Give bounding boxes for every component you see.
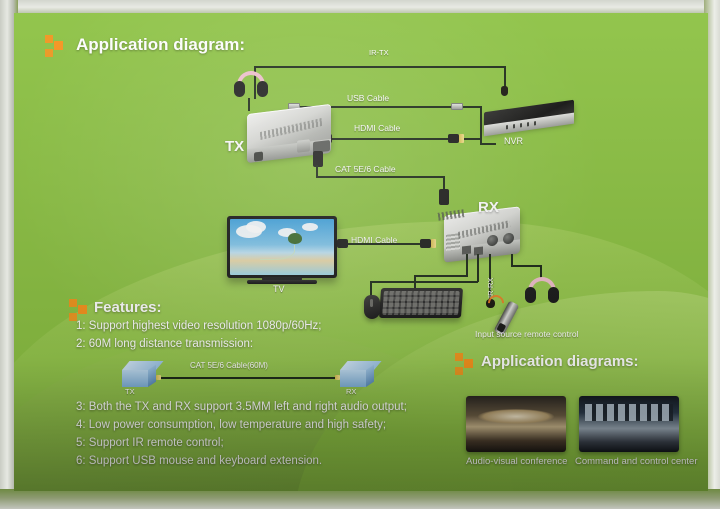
hdmi-body-tv (337, 239, 348, 248)
wire-headphone-tx (248, 98, 250, 111)
mini-label-cat-cable: CAT 5E/6 Cable(60M) (190, 361, 268, 370)
mini-label-tx: TX (125, 387, 135, 396)
wire-hdmi-bottom (348, 243, 420, 245)
label-rx: RX (478, 199, 499, 216)
wire-nvr-bus-vert (480, 106, 482, 144)
feature-item-4: 4: Low power consumption, low temperatur… (76, 419, 386, 431)
wire-nvr-bus-bottom (480, 143, 496, 145)
rx-usb-port-2 (474, 246, 483, 255)
tv-device (227, 216, 337, 278)
mini-label-rx: RX (346, 387, 356, 396)
thumbnail-command-control-center (579, 396, 679, 452)
label-usb-cable: USB Cable (347, 93, 389, 103)
wire-hdmi-to-nvr (464, 138, 480, 140)
feature-item-5: 5: Support IR remote control; (76, 437, 224, 449)
hdmi-connector-rx (431, 239, 436, 248)
wire-headphone-rx-horiz (511, 265, 541, 267)
feature-item-6: 6: Support USB mouse and keyboard extens… (76, 455, 322, 467)
tv-screen (230, 219, 334, 275)
rj45-connector-tx (313, 151, 323, 167)
wire-usb-kbd-horiz (414, 275, 468, 277)
label-remote-caption: Input source remote control (475, 329, 578, 339)
tx-audio-jack (254, 151, 263, 161)
label-tv: TV (273, 284, 285, 294)
mouse-device (364, 295, 380, 319)
thumbnail-audio-visual-conference (466, 396, 566, 452)
wire-cat-horizontal (316, 176, 444, 178)
wire-usb-mouse-horiz (370, 281, 478, 283)
box-front-panel: Application diagram: IR-TX USB Cable HDM… (14, 13, 708, 491)
wire-ir-tx-top (254, 66, 506, 68)
wire-usb-mouse-vert (477, 254, 479, 282)
feature-item-1: 1: Support highest video resolution 1080… (76, 320, 322, 332)
hdmi-body-rx (420, 239, 431, 248)
content-layer: Application diagram: IR-TX USB Cable HDM… (14, 13, 708, 491)
caption-command-control-center: Command and control center (575, 456, 698, 467)
usb-connector-right (451, 103, 463, 110)
rj45-connector-rx (439, 189, 449, 205)
ir-emitter-icon (501, 86, 508, 96)
orange-squares-icon (45, 35, 65, 59)
application-diagrams-title: Application diagrams: (481, 353, 639, 370)
wire-usb-to-nvr (463, 106, 481, 108)
box-edge-bottom (0, 489, 720, 509)
mini-rx-box-icon (340, 361, 374, 387)
label-cat-cable: CAT 5E/6 Cable (335, 164, 396, 174)
label-ir-tx: IR-TX (369, 48, 389, 57)
mini-cat-cable (161, 377, 335, 379)
tx-rj45-port (297, 139, 310, 153)
feature-item-2: 2: 60M long distance transmission: (76, 338, 253, 350)
product-box-photo: Application diagram: IR-TX USB Cable HDM… (0, 0, 720, 509)
caption-audio-visual-conference: Audio-visual conference (466, 456, 567, 467)
headphones-icon-tx (234, 71, 268, 101)
wire-usb-kbd-vert (466, 254, 468, 276)
label-tx: TX (225, 138, 244, 155)
keyboard-device (379, 288, 463, 318)
headphones-icon-rx (525, 277, 559, 307)
application-diagram-title: Application diagram: (76, 35, 245, 55)
wire-ir-tx-right (504, 66, 506, 88)
feature-item-3: 3: Both the TX and RX support 3.5MM left… (76, 401, 407, 413)
label-hdmi-cable-top: HDMI Cable (354, 123, 400, 133)
label-nvr: NVR (504, 136, 523, 146)
orange-squares-icon-app-diagrams (455, 353, 475, 377)
mini-tx-box-icon (122, 361, 156, 387)
features-title: Features: (94, 299, 162, 316)
wire-hdmi-top (332, 138, 448, 140)
hdmi-body-nvr (448, 134, 459, 143)
